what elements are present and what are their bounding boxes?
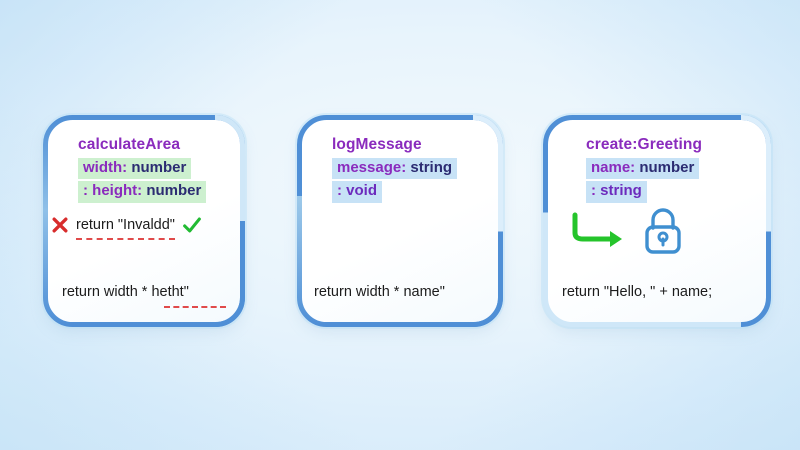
param-type: number (127, 159, 186, 176)
param-type: number (635, 159, 694, 176)
function-name: create:Greeting (586, 136, 752, 154)
error-annotation-row: return "Invaldd" (50, 214, 203, 236)
return-type: void (342, 182, 377, 199)
lock-annotation-row (568, 206, 686, 256)
param-type: number (142, 182, 201, 199)
lock-icon (640, 206, 686, 256)
card-content: logMessage message: string : void return… (300, 118, 500, 324)
param-type: string (406, 159, 452, 176)
error-code-text: return "Invaldd" (76, 217, 175, 233)
error-code-line: return "Invaldd" (76, 217, 175, 233)
card-content: calculateArea width: number : height: nu… (46, 118, 242, 324)
dashed-underline-partial (164, 306, 226, 308)
card-create-greeting[interactable]: create:Greeting name: number : string (546, 118, 768, 324)
param-name: width: (83, 159, 127, 176)
bottom-code-line: return width * name" (314, 284, 445, 300)
param-name: : height: (83, 182, 142, 199)
signature-line-1: name: number (586, 158, 699, 179)
x-mark-icon (50, 215, 70, 235)
param-name: message: (337, 159, 406, 176)
card-log-message[interactable]: logMessage message: string : void return… (300, 118, 500, 324)
card-calculate-area[interactable]: calculateArea width: number : height: nu… (46, 118, 242, 324)
param-name: name: (591, 159, 635, 176)
function-name: calculateArea (78, 136, 226, 154)
signature-line-2: : string (586, 181, 647, 202)
bottom-code-line: return "Hello, " + name; (562, 284, 712, 300)
green-arrow-icon (568, 211, 630, 251)
signature-line-2: : height: number (78, 181, 206, 202)
signature-line-1: message: string (332, 158, 457, 179)
dashed-underline (76, 238, 175, 240)
function-name: logMessage (332, 136, 484, 154)
signature-line-2: : void (332, 181, 382, 202)
check-mark-icon (181, 214, 203, 236)
bottom-code-line: return width * hetht" (62, 284, 189, 300)
cards-row: calculateArea width: number : height: nu… (0, 0, 800, 450)
return-type: string (596, 182, 642, 199)
slide-canvas: calculateArea width: number : height: nu… (0, 0, 800, 450)
card-content: create:Greeting name: number : string (546, 118, 768, 324)
signature-line-1: width: number (78, 158, 191, 179)
